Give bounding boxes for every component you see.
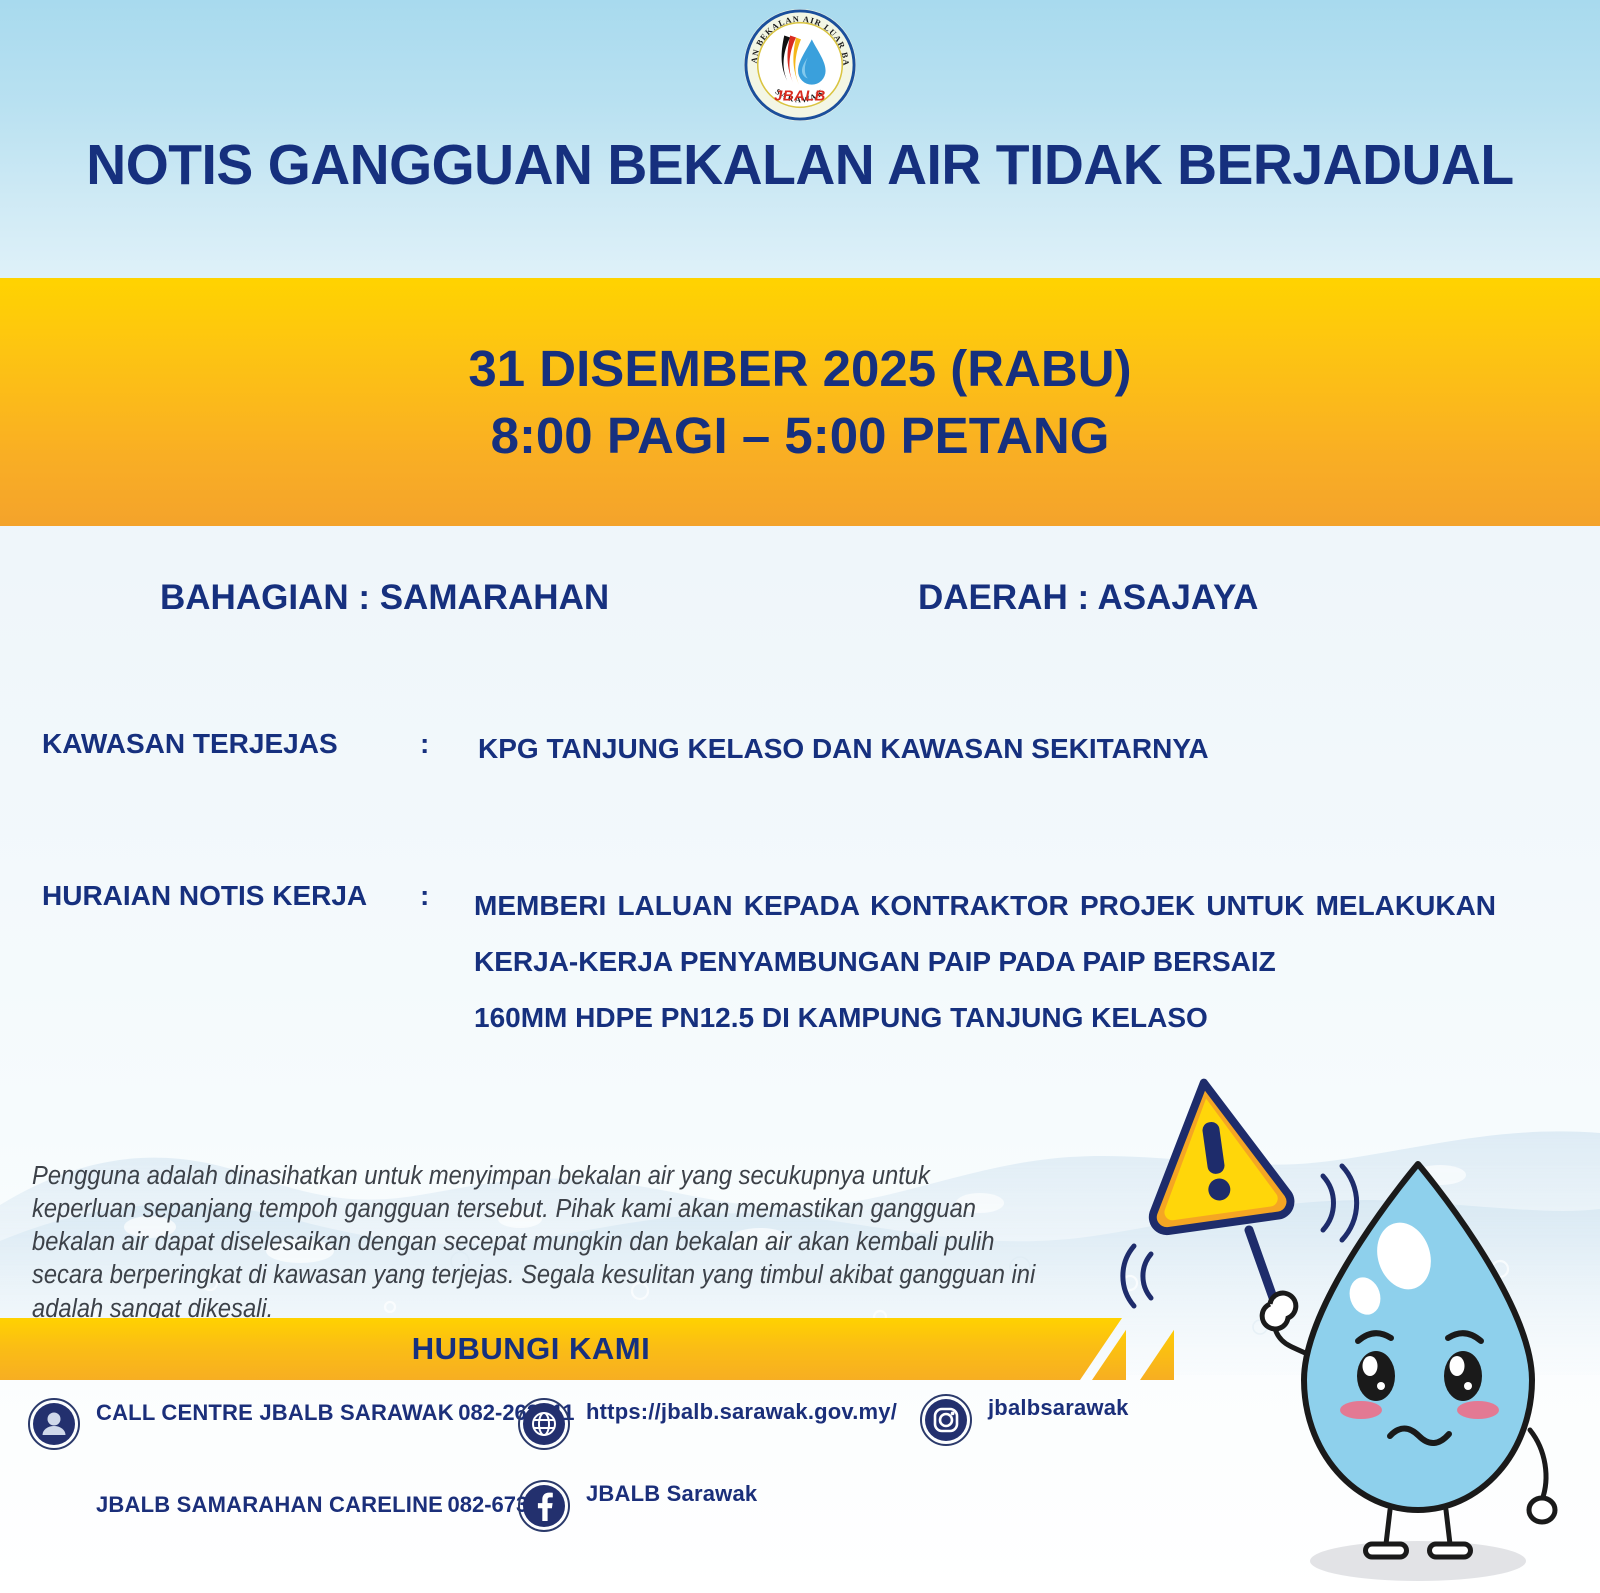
contact-website-url: https://jbalb.sarawak.gov.my/ [586, 1399, 897, 1424]
affected-area-colon: : [420, 728, 429, 760]
contact-facebook-handle: JBALB Sarawak [586, 1481, 757, 1506]
contact-banner-label: HUBUNGI KAMI [0, 1318, 1062, 1380]
affected-area-value: KPG TANJUNG KELASO DAN KAWASAN SEKITARNY… [478, 733, 1209, 765]
contact-careline-name: JBALB SAMARAHAN CARELINE [96, 1492, 443, 1517]
globe-icon [518, 1398, 570, 1450]
contact-call-centre[interactable]: CALL CENTRE JBALB SARAWAK 082-262211 [28, 1398, 575, 1450]
date-time-band: 31 DISEMBER 2025 (RABU) 8:00 PAGI – 5:00… [0, 278, 1600, 526]
contact-instagram-handle: jbalbsarawak [988, 1395, 1129, 1420]
notice-poster: JABATAN BEKALAN AIR LUAR BANDAR SARAWAK … [0, 0, 1600, 1593]
work-description-line-3: 160MM HDPE PN12.5 DI KAMPUNG TANJUNG KEL… [474, 990, 1496, 1046]
water-drop-mascot [1118, 1058, 1600, 1593]
division-label: BAHAGIAN : SAMARAHAN [160, 578, 609, 618]
affected-area-label: KAWASAN TERJEJAS [42, 728, 338, 760]
district-label: DAERAH : ASAJAYA [918, 578, 1258, 618]
advisory-text: Pengguna adalah dinasihatkan untuk menyi… [32, 1160, 1036, 1326]
work-description-label: HURAIAN NOTIS KERJA [42, 880, 367, 912]
contact-website[interactable]: https://jbalb.sarawak.gov.my/ [518, 1398, 897, 1450]
svg-text:JBALB: JBALB [774, 88, 826, 104]
contact-banner: HUBUNGI KAMI [0, 1318, 1122, 1380]
contact-facebook[interactable]: JBALB Sarawak [518, 1480, 757, 1532]
contact-instagram[interactable]: jbalbsarawak [920, 1394, 1129, 1446]
contact-careline[interactable]: JBALB SAMARAHAN CARELINE 082-673809 [28, 1490, 565, 1542]
poster-header: JABATAN BEKALAN AIR LUAR BANDAR SARAWAK … [0, 0, 1600, 278]
work-description-colon: : [420, 880, 429, 912]
instagram-icon [920, 1394, 972, 1446]
work-description-line-1: MEMBERI LALUAN KEPADA KONTRAKTOR PROJEK … [474, 890, 1304, 921]
notice-date: 31 DISEMBER 2025 (RABU) [468, 335, 1131, 402]
region-row: BAHAGIAN : SAMARAHAN DAERAH : ASAJAYA [0, 578, 1600, 628]
page-title: NOTIS GANGGUAN BEKALAN AIR TIDAK BERJADU… [24, 132, 1576, 198]
facebook-icon [518, 1480, 570, 1532]
work-description-value: MEMBERI LALUAN KEPADA KONTRAKTOR PROJEK … [474, 878, 1496, 1046]
jbalb-logo: JABATAN BEKALAN AIR LUAR BANDAR SARAWAK … [741, 6, 859, 124]
banner-stripe-2 [1140, 1318, 1174, 1380]
notice-time: 8:00 PAGI – 5:00 PETANG [491, 402, 1110, 469]
contact-call-centre-name: CALL CENTRE JBALB SARAWAK [96, 1400, 454, 1425]
person-icon [28, 1398, 80, 1450]
